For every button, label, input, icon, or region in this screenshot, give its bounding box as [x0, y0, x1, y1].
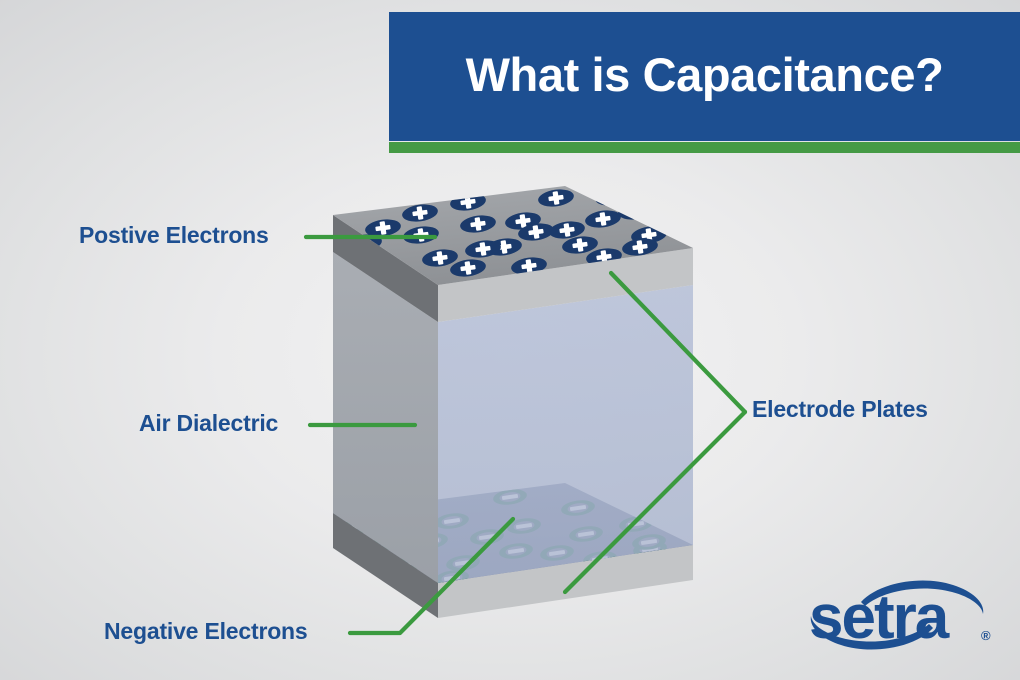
slide-canvas: What is Capacitance? Postive Electrons A…: [0, 0, 1020, 680]
setra-logo[interactable]: setra ®: [795, 576, 1000, 654]
label-positive-electrons: Postive Electrons: [79, 224, 269, 247]
label-electrode-plates: Electrode Plates: [752, 398, 928, 421]
dielectric-front-face: [438, 285, 693, 583]
label-negative-electrons: Negative Electrons: [104, 620, 307, 643]
title-accent-bar: [389, 142, 1020, 153]
label-air-dielectric: Air Dialectric: [139, 412, 278, 435]
logo-registered-mark: ®: [981, 628, 991, 643]
title-banner: What is Capacitance?: [389, 12, 1020, 153]
page-title: What is Capacitance?: [389, 12, 1020, 141]
logo-wordmark: setra: [809, 583, 950, 652]
